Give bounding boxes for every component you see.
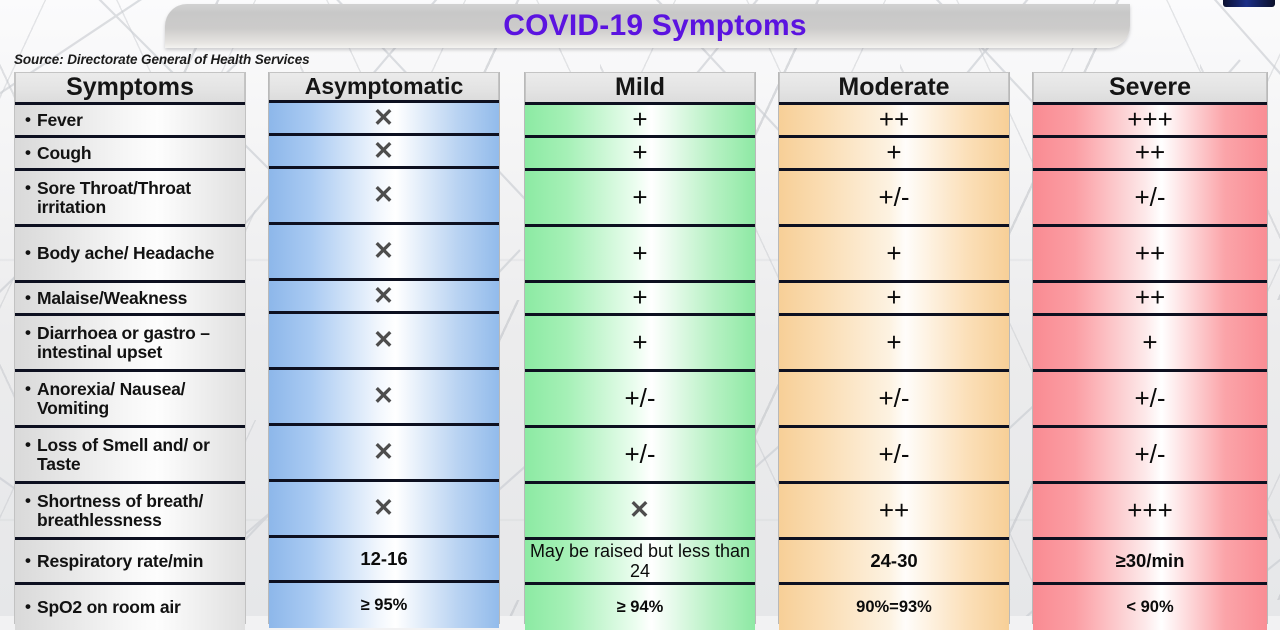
column-cells-mild: +++++++/-+/-✕May be raised but less than… [525,102,755,630]
table-row: •Body ache/ Headache [15,227,245,283]
corner-accent-chip [1223,0,1275,7]
symptom-label: Loss of Smell and/ or Taste [37,436,239,473]
bullet-icon: • [25,552,37,570]
cross-icon: ✕ [269,383,499,409]
severity-value: + [1033,329,1267,356]
severity-value: +/- [1033,184,1267,211]
table-row: ✕ [525,484,755,540]
table-row: +++ [1033,105,1267,138]
table-row: +/- [1033,372,1267,428]
cross-icon: ✕ [269,327,499,353]
severity-value: ++ [1033,240,1267,267]
table-row: + [525,316,755,372]
severity-value: + [779,329,1009,356]
symptom-label: Malaise/Weakness [37,289,187,308]
table-row: + [779,316,1009,372]
cross-icon: ✕ [269,105,499,131]
severity-value: ++ [1033,139,1267,166]
severity-value: ++ [1033,284,1267,311]
column-cells-severe: ++++++/-++++++/-+/-+++≥30/min< 90% [1033,102,1267,630]
bullet-icon: • [25,179,37,197]
table-row: •Anorexia/ Nausea/ Vomiting [15,372,245,428]
symptom-label: Respiratory rate/min [37,552,203,571]
table-row: < 90% [1033,585,1267,630]
bullet-icon: • [25,380,37,398]
column-cells-asymptomatic: ✕✕✕✕✕✕✕✕✕12-16≥ 95% [269,100,499,628]
column-header-mild: Mild [525,72,755,102]
table-row: 12-16 [269,538,499,583]
table-row: •SpO2 on room air [15,585,245,630]
severity-value: +/- [779,184,1009,211]
table-row: ✕ [269,482,499,538]
bullet-icon: • [25,289,37,307]
severity-value: + [525,284,755,311]
table-row: ✕ [269,136,499,169]
table-row: ≥ 95% [269,583,499,628]
table-row: ≥30/min [1033,540,1267,585]
severity-value: May be raised but less than 24 [525,541,755,581]
bullet-icon: • [25,111,37,129]
cross-icon: ✕ [269,439,499,465]
column-moderate: Moderate++++/-++++/-+/-++24-3090%=93% [778,72,1010,624]
table-row: +/- [779,428,1009,484]
bullet-icon: • [25,144,37,162]
table-row: ++ [1033,138,1267,171]
severity-value: +/- [525,441,755,468]
bullet-icon: • [25,244,37,262]
severity-value: ≥ 95% [269,597,499,614]
symptom-label: Anorexia/ Nausea/ Vomiting [37,380,239,417]
table-row: •Malaise/Weakness [15,283,245,316]
table-row: +++ [1033,484,1267,540]
symptom-label: Body ache/ Headache [37,244,214,263]
table-row: •Sore Throat/Throat irritation [15,171,245,227]
table-row: +/- [525,428,755,484]
table-row: ✕ [269,370,499,426]
table-row: + [779,138,1009,171]
table-row: + [525,105,755,138]
severity-value: +/- [1033,385,1267,412]
table-row: +/- [525,372,755,428]
column-header-asymptomatic: Asymptomatic [269,72,499,100]
table-row: May be raised but less than 24 [525,540,755,585]
page-title: COVID-19 Symptoms [215,5,1095,47]
cross-icon: ✕ [269,283,499,309]
severity-value: ≥ 94% [525,599,755,616]
severity-value: +/- [779,385,1009,412]
symptom-label: Diarrhoea or gastro – intestinal upset [37,324,239,361]
table-row: +/- [1033,428,1267,484]
table-row: ++ [1033,283,1267,316]
table-row: ≥ 94% [525,585,755,630]
table-row: ✕ [269,103,499,136]
column-symptoms: Symptoms•Fever•Cough•Sore Throat/Throat … [14,72,246,624]
severity-value: +/- [525,385,755,412]
table-row: •Cough [15,138,245,171]
cross-icon: ✕ [269,238,499,264]
severity-value: ++ [779,106,1009,133]
symptom-label: Sore Throat/Throat irritation [37,179,239,216]
table-row: + [779,227,1009,283]
source-note: Source: Directorate General of Health Se… [14,52,310,67]
column-header-moderate: Moderate [779,72,1009,102]
table-row: + [525,138,755,171]
table-row: ✕ [269,225,499,281]
table-row: ++ [779,105,1009,138]
severity-value: 90%=93% [779,599,1009,616]
cross-icon: ✕ [269,182,499,208]
table-row: ✕ [269,281,499,314]
severity-value: +++ [1033,106,1267,133]
severity-value: +/- [1033,441,1267,468]
table-row: +/- [779,372,1009,428]
bullet-icon: • [25,324,37,342]
table-row: •Shortness of breath/ breathlessness [15,484,245,540]
bullet-icon: • [25,598,37,616]
column-mild: Mild+++++++/-+/-✕May be raised but less … [524,72,756,624]
severity-value: + [779,240,1009,267]
table-row: •Diarrhoea or gastro – intestinal upset [15,316,245,372]
table-row: ✕ [269,314,499,370]
table-row: 90%=93% [779,585,1009,630]
column-header-symptoms: Symptoms [15,72,245,102]
table-row: +/- [779,171,1009,227]
cross-icon: ✕ [269,495,499,521]
severity-value: + [525,106,755,133]
severity-value: ++ [779,497,1009,524]
symptom-label: Cough [37,144,91,163]
cross-icon: ✕ [525,497,755,523]
column-asymptomatic: Asymptomatic✕✕✕✕✕✕✕✕✕12-16≥ 95% [268,72,500,624]
severity-value: + [525,139,755,166]
table-row: ✕ [269,169,499,225]
table-row: ++ [779,484,1009,540]
table-row: + [525,171,755,227]
severity-value: +++ [1033,497,1267,524]
table-row: •Loss of Smell and/ or Taste [15,428,245,484]
symptom-label: Fever [37,111,83,130]
table-row: ✕ [269,426,499,482]
table-row: •Respiratory rate/min [15,540,245,585]
table-row: +/- [1033,171,1267,227]
symptom-label: SpO2 on room air [37,598,181,617]
severity-value: + [779,284,1009,311]
table-row: ++ [1033,227,1267,283]
table-row: + [525,227,755,283]
table-row: + [525,283,755,316]
table-row: 24-30 [779,540,1009,585]
severity-value: 24-30 [779,551,1009,570]
severity-value: + [525,329,755,356]
bullet-icon: • [25,436,37,454]
table-row: •Fever [15,105,245,138]
table-row: + [1033,316,1267,372]
severity-value: + [779,139,1009,166]
severity-value: + [525,240,755,267]
severity-value: 12-16 [269,549,499,568]
column-cells-moderate: ++++/-++++/-+/-++24-3090%=93% [779,102,1009,630]
column-header-severe: Severe [1033,72,1267,102]
symptom-label: Shortness of breath/ breathlessness [37,492,239,529]
symptoms-table: Symptoms•Fever•Cough•Sore Throat/Throat … [0,72,1280,624]
severity-value: +/- [779,441,1009,468]
severity-value: < 90% [1033,599,1267,616]
severity-value: + [525,184,755,211]
cross-icon: ✕ [269,138,499,164]
bullet-icon: • [25,492,37,510]
column-cells-symptoms: •Fever•Cough•Sore Throat/Throat irritati… [15,102,245,630]
table-row: + [779,283,1009,316]
severity-value: ≥30/min [1033,551,1267,570]
column-severe: Severe++++++/-++++++/-+/-+++≥30/min< 90% [1032,72,1268,624]
